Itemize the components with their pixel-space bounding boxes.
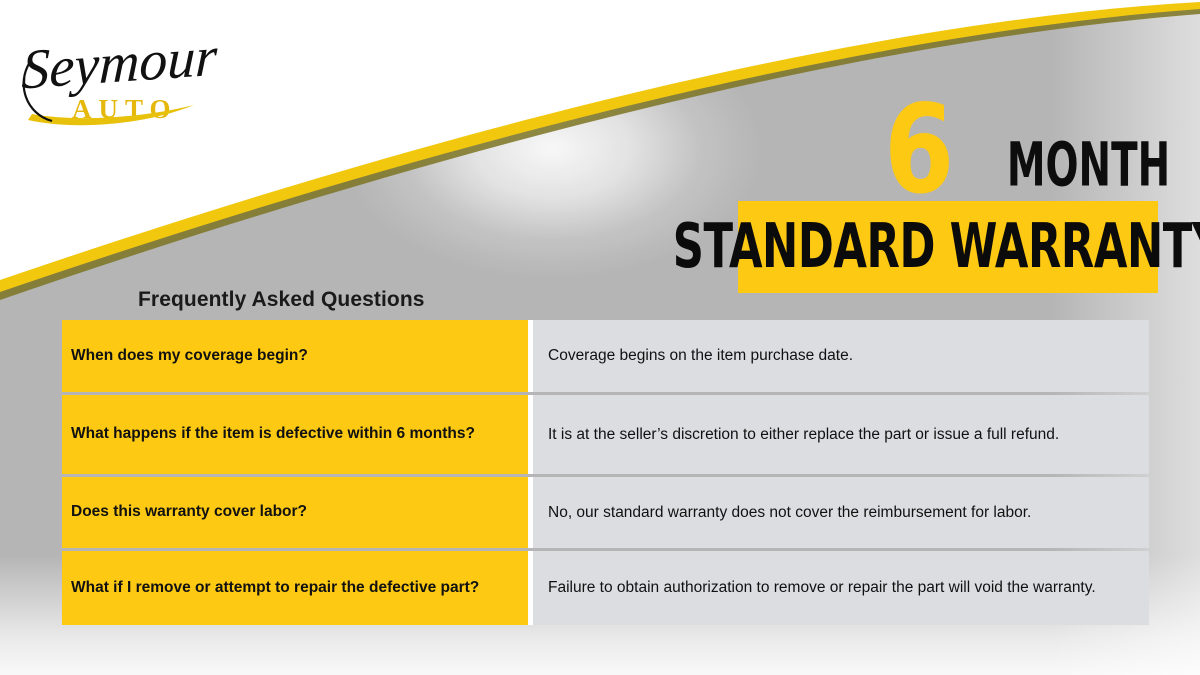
faq-answer-text: No, our standard warranty does not cover… [548, 502, 1031, 523]
warranty-term-number: 6 [883, 103, 951, 198]
faq-answer-cell: Failure to obtain authorization to remov… [533, 551, 1149, 625]
table-row: What happens if the item is defective wi… [62, 395, 1149, 474]
warranty-term: 6 MONTH [880, 78, 1170, 198]
faq-answer-cell: Coverage begins on the item purchase dat… [533, 320, 1149, 392]
faq-answer-text: It is at the seller’s discretion to eith… [548, 424, 1059, 445]
faq-answer-text: Failure to obtain authorization to remov… [548, 577, 1096, 598]
faq-table: When does my coverage begin? Coverage be… [62, 320, 1149, 625]
faq-question-cell: What if I remove or attempt to repair th… [62, 551, 528, 625]
faq-answer-cell: It is at the seller’s discretion to eith… [533, 395, 1149, 474]
table-row: Does this warranty cover labor? No, our … [62, 477, 1149, 548]
standard-warranty-banner-text: STANDARD WARRANTY [673, 216, 1200, 278]
table-row: When does my coverage begin? Coverage be… [62, 320, 1149, 392]
faq-heading: Frequently Asked Questions [138, 288, 425, 312]
warranty-slide: Seymour AUTO 6 MONTH STANDARD WARRANTY F… [0, 0, 1200, 675]
warranty-term-unit: MONTH [1007, 139, 1170, 198]
seymour-auto-logo: Seymour AUTO [22, 22, 232, 134]
faq-answer-text: Coverage begins on the item purchase dat… [548, 345, 853, 366]
faq-answer-cell: No, our standard warranty does not cover… [533, 477, 1149, 548]
faq-question-cell: When does my coverage begin? [62, 320, 528, 392]
table-row: What if I remove or attempt to repair th… [62, 551, 1149, 625]
faq-question-text: When does my coverage begin? [71, 346, 308, 366]
standard-warranty-banner: STANDARD WARRANTY [738, 201, 1158, 293]
faq-question-text: Does this warranty cover labor? [71, 502, 307, 522]
faq-question-cell: Does this warranty cover labor? [62, 477, 528, 548]
faq-question-text: What if I remove or attempt to repair th… [71, 578, 479, 598]
faq-question-text: What happens if the item is defective wi… [71, 424, 475, 444]
logo-wordmark-script: Seymour [22, 26, 219, 102]
faq-question-cell: What happens if the item is defective wi… [62, 395, 528, 474]
